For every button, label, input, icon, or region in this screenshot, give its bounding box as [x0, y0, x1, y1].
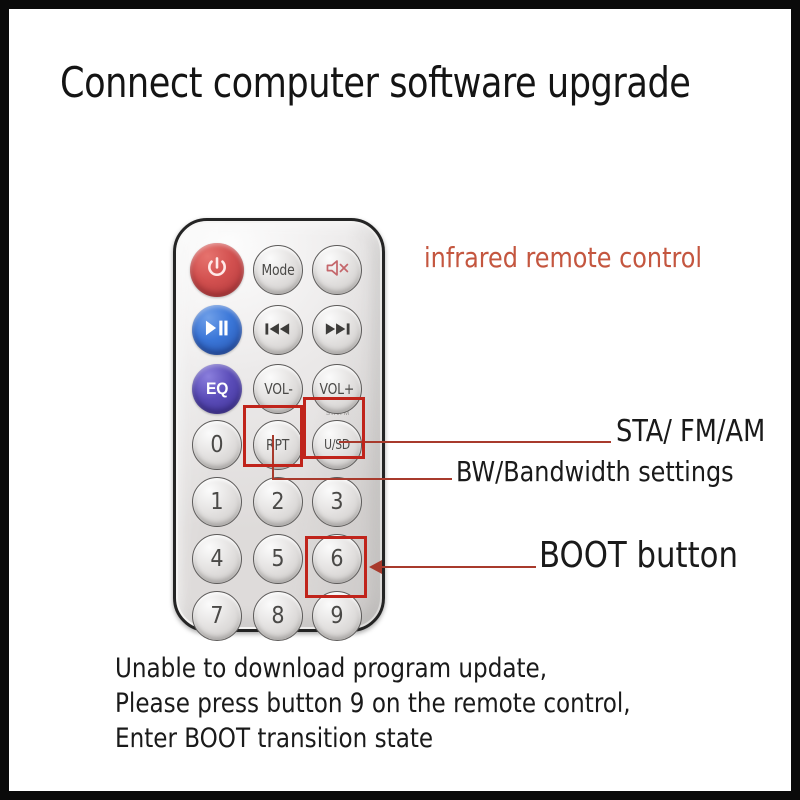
play-pause-button[interactable] — [192, 305, 242, 355]
power-icon — [204, 255, 230, 286]
key-7-label: 7 — [210, 603, 223, 629]
caption-line-2: Please press button 9 on the remote cont… — [115, 686, 631, 721]
previous-icon — [265, 321, 291, 340]
key-4[interactable]: 4 — [192, 534, 242, 584]
key-1-label: 1 — [210, 489, 223, 515]
volume-down-label: VOL- — [264, 380, 292, 398]
callout-bw-bandwidth-settings: BW/Bandwidth settings — [456, 455, 734, 488]
eq-button-label: EQ — [206, 379, 228, 399]
key-0-label: 0 — [210, 432, 223, 458]
key-4-label: 4 — [210, 546, 223, 572]
leader-line-boot — [381, 566, 536, 568]
infrared-remote-control-label: infrared remote control — [424, 241, 702, 274]
callout-boot-button: BOOT button — [539, 535, 738, 576]
leader-line-sta-fm-am — [339, 441, 611, 443]
instruction-caption: Unable to download program update, Pleas… — [115, 651, 631, 756]
key-3[interactable]: 3 — [312, 477, 362, 527]
caption-line-3: Enter BOOT transition state — [115, 721, 631, 756]
next-icon — [324, 321, 350, 340]
key-5-label: 5 — [271, 546, 284, 572]
arrow-head-boot-icon — [369, 560, 382, 574]
mute-button[interactable] — [312, 245, 362, 295]
page-canvas: Connect computer software upgrade infrar… — [9, 9, 791, 791]
highlight-box-key-9 — [305, 536, 367, 598]
highlight-box-usd — [303, 397, 365, 459]
key-8-label: 8 — [271, 603, 284, 629]
caption-line-1: Unable to download program update, — [115, 651, 631, 686]
page-title: Connect computer software upgrade — [60, 57, 690, 109]
play-pause-icon — [205, 319, 229, 342]
power-button[interactable] — [190, 243, 244, 297]
volume-up-label: VOL+ — [320, 380, 355, 398]
key-8[interactable]: 8 — [253, 591, 303, 641]
next-track-button[interactable] — [312, 305, 362, 355]
key-3-label: 3 — [330, 489, 343, 515]
key-5[interactable]: 5 — [253, 534, 303, 584]
key-0[interactable]: 0 — [192, 420, 242, 470]
mute-icon — [324, 257, 350, 283]
key-2-label: 2 — [271, 489, 284, 515]
previous-track-button[interactable] — [253, 305, 303, 355]
mode-button[interactable]: Mode — [253, 245, 303, 295]
image-frame: Connect computer software upgrade infrar… — [0, 0, 800, 800]
callout-sta-fm-am: STA/ FM/AM — [616, 414, 765, 449]
key-1[interactable]: 1 — [192, 477, 242, 527]
key-2[interactable]: 2 — [253, 477, 303, 527]
key-9[interactable]: 9 — [312, 591, 362, 641]
leader-line-bw-horizontal — [272, 478, 452, 480]
highlight-box-rpt — [243, 405, 303, 467]
key-7[interactable]: 7 — [192, 591, 242, 641]
mode-button-label: Mode — [261, 261, 294, 279]
key-9-label: 9 — [330, 603, 343, 629]
eq-button[interactable]: EQ — [192, 364, 242, 414]
